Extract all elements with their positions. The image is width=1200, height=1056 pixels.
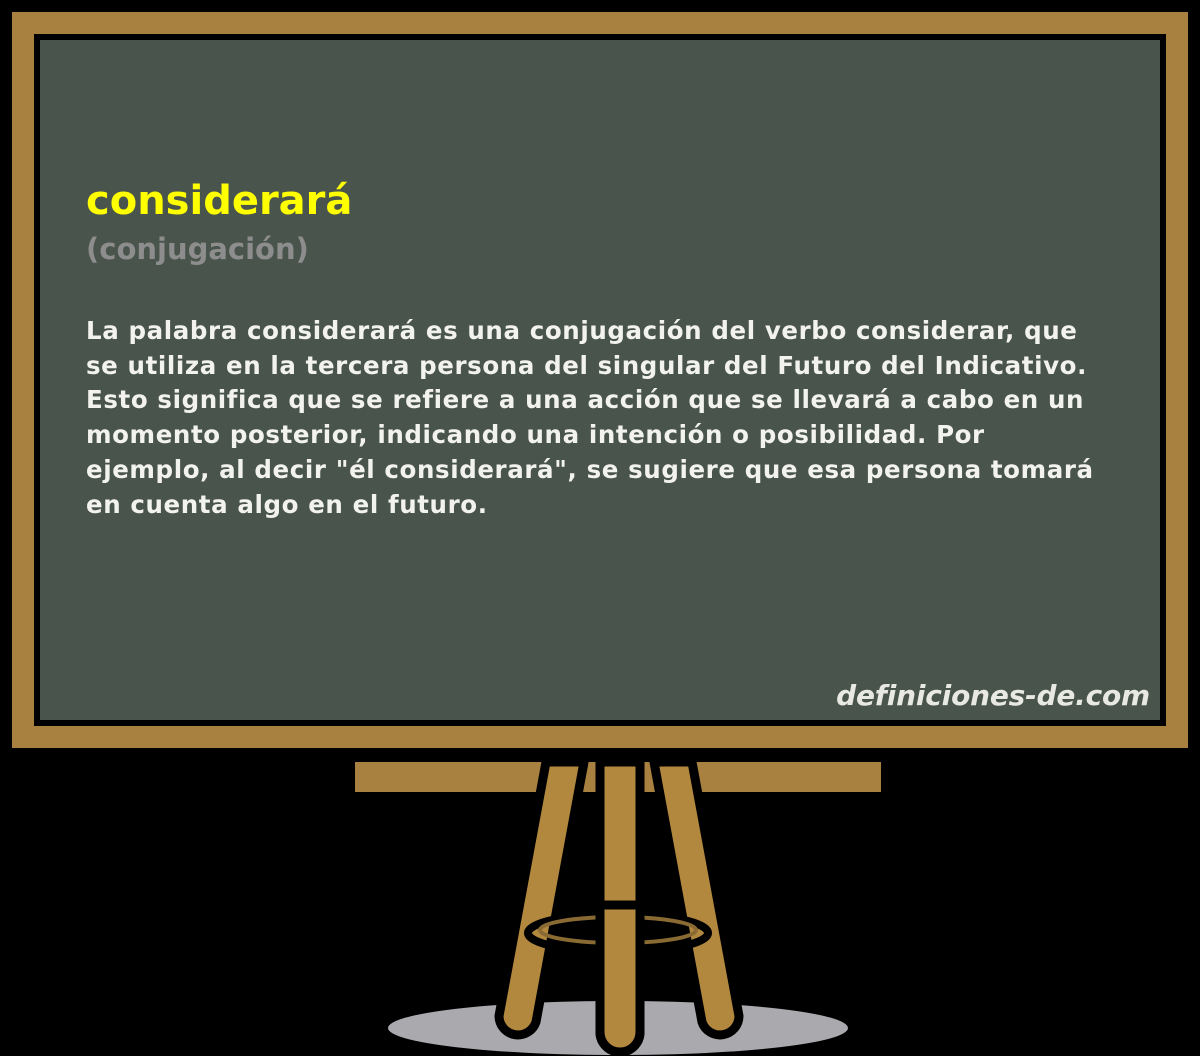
chalkboard-frame: considerará (conjugación) La palabra con…: [8, 8, 1192, 752]
word-type-subtitle: (conjugación): [86, 234, 1132, 266]
leg-right: [654, 762, 739, 1035]
site-watermark: definiciones-de.com: [836, 679, 1150, 712]
definition-paragraph: La palabra considerará es una conjugació…: [86, 314, 1116, 523]
leg-left: [499, 762, 584, 1035]
headword-title: considerará: [86, 180, 1132, 222]
easel-chalkboard-scene: considerará (conjugación) La palabra con…: [0, 0, 1200, 1056]
easel-tripod: [0, 740, 1200, 1056]
board-text-block: considerará (conjugación) La palabra con…: [86, 180, 1132, 523]
chalkboard-surface: considerará (conjugación) La palabra con…: [34, 34, 1166, 726]
leg-center-front-overlap: [600, 905, 640, 1052]
